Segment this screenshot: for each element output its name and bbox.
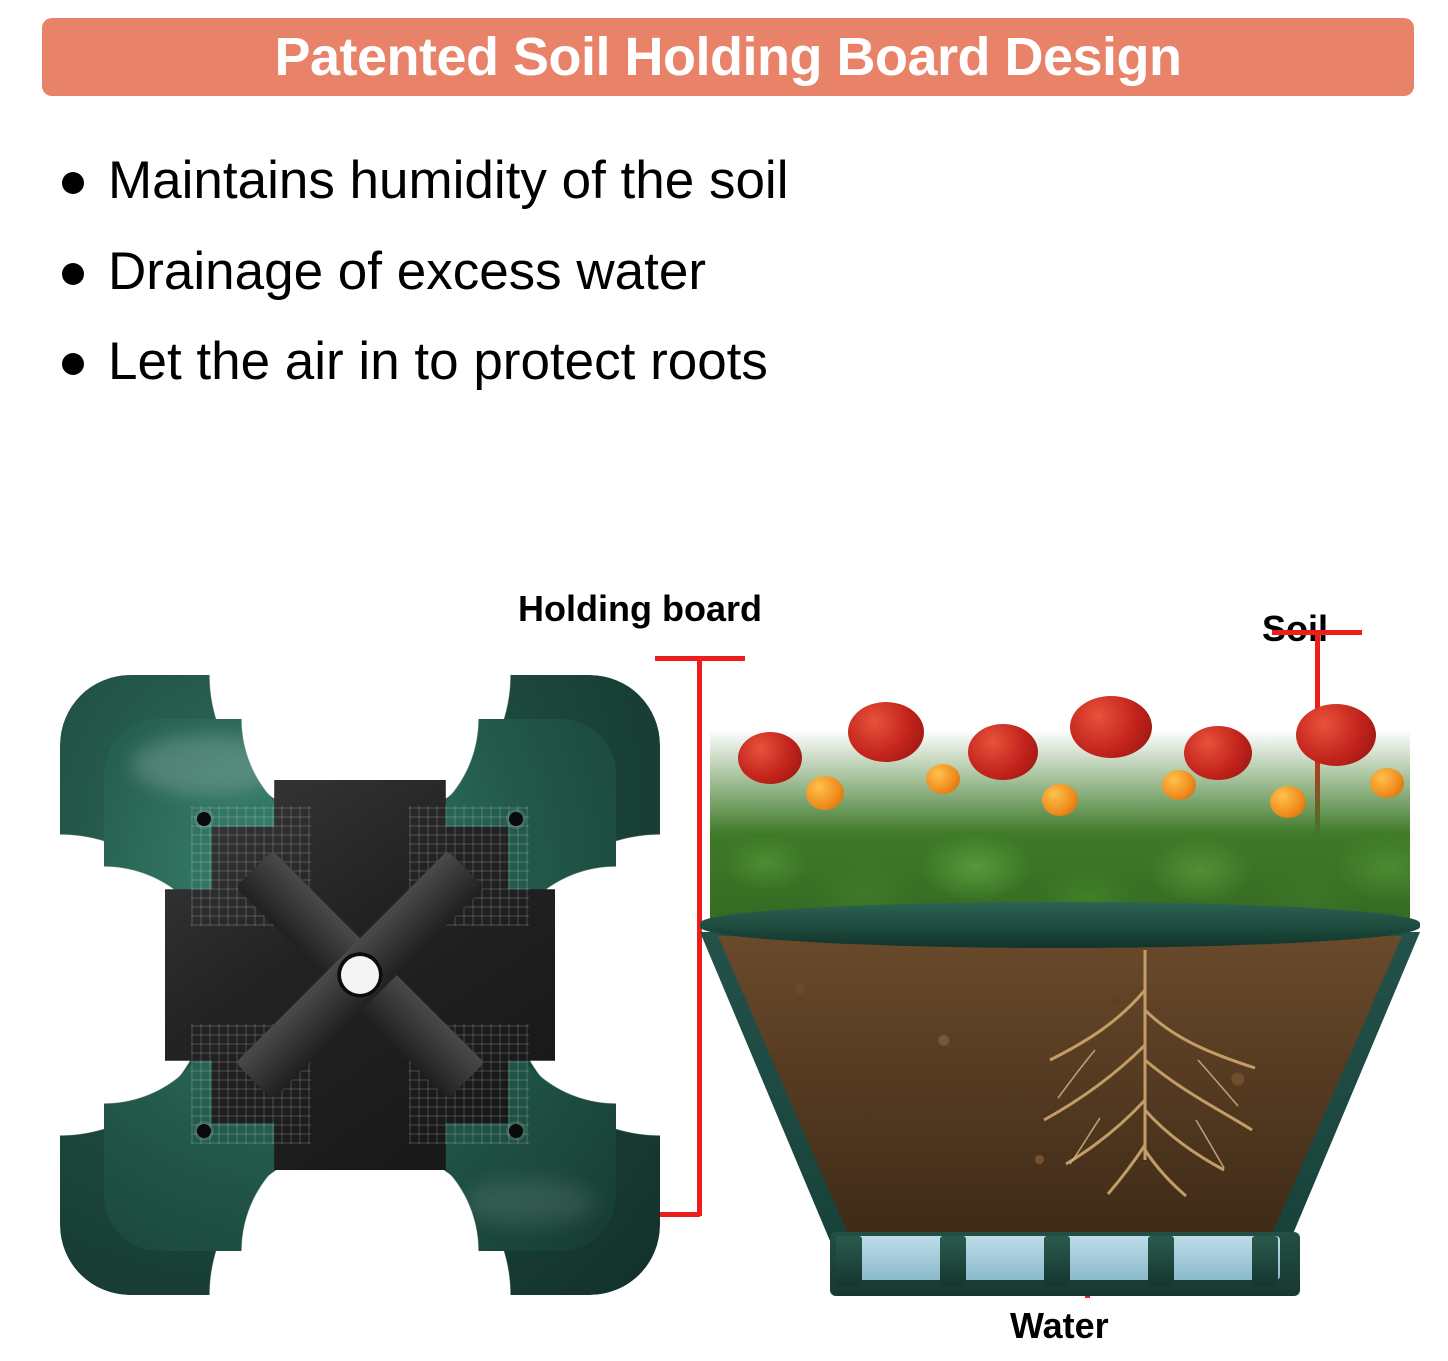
board-highlight-secondary [464, 1179, 594, 1225]
list-item: Maintains humidity of the soil [62, 150, 1162, 213]
bullet-dot-icon [62, 263, 84, 285]
flower-bloom-red [848, 702, 924, 762]
tray-rib [836, 1236, 862, 1286]
bullet-dot-icon [62, 353, 84, 375]
flower-bloom-orange [926, 764, 960, 794]
foliage-mass [710, 730, 1410, 920]
flower-bloom-red [1070, 696, 1152, 758]
page-title: Patented Soil Holding Board Design [274, 30, 1181, 84]
plate-screw-icon [197, 1124, 211, 1138]
bullet-text: Drainage of excess water [108, 241, 706, 304]
bullet-text: Maintains humidity of the soil [108, 150, 789, 213]
flower-bloom-red [1296, 704, 1376, 766]
plant-roots [1000, 950, 1290, 1200]
holding-board-top-view [60, 675, 660, 1295]
tray-rib [940, 1236, 966, 1286]
flower-bloom-orange [1370, 768, 1404, 798]
callout-label-holding-board: Holding board [518, 588, 762, 630]
plate-screw-icon [197, 812, 211, 826]
header-banner: Patented Soil Holding Board Design [42, 18, 1414, 96]
flower-bloom-red [968, 724, 1038, 780]
pot-rim [700, 902, 1420, 948]
list-item: Drainage of excess water [62, 241, 1162, 304]
tray-rib [1044, 1236, 1070, 1286]
bullet-dot-icon [62, 172, 84, 194]
flower-bloom-orange [806, 776, 844, 810]
planter-cross-section [700, 680, 1420, 1280]
callout-label-water: Water [1010, 1305, 1109, 1347]
list-item: Let the air in to protect roots [62, 331, 1162, 394]
bullet-text: Let the air in to protect roots [108, 331, 768, 394]
tray-rib [1148, 1236, 1174, 1286]
tray-rib [1252, 1236, 1278, 1286]
plate-screw-icon [509, 1124, 523, 1138]
product-diagram: Holding board Soil Water [0, 560, 1448, 1360]
board-center-plate [165, 780, 555, 1170]
feature-bullet-list: Maintains humidity of the soil Drainage … [62, 150, 1162, 422]
plate-screw-icon [509, 812, 523, 826]
plate-drain-hole [337, 952, 383, 998]
flower-bloom-red [1184, 726, 1252, 780]
flower-bloom-red [738, 732, 802, 784]
flower-cluster [710, 680, 1410, 920]
flower-bloom-orange [1270, 786, 1306, 818]
flower-bloom-orange [1042, 784, 1078, 816]
flower-bloom-orange [1162, 770, 1196, 800]
